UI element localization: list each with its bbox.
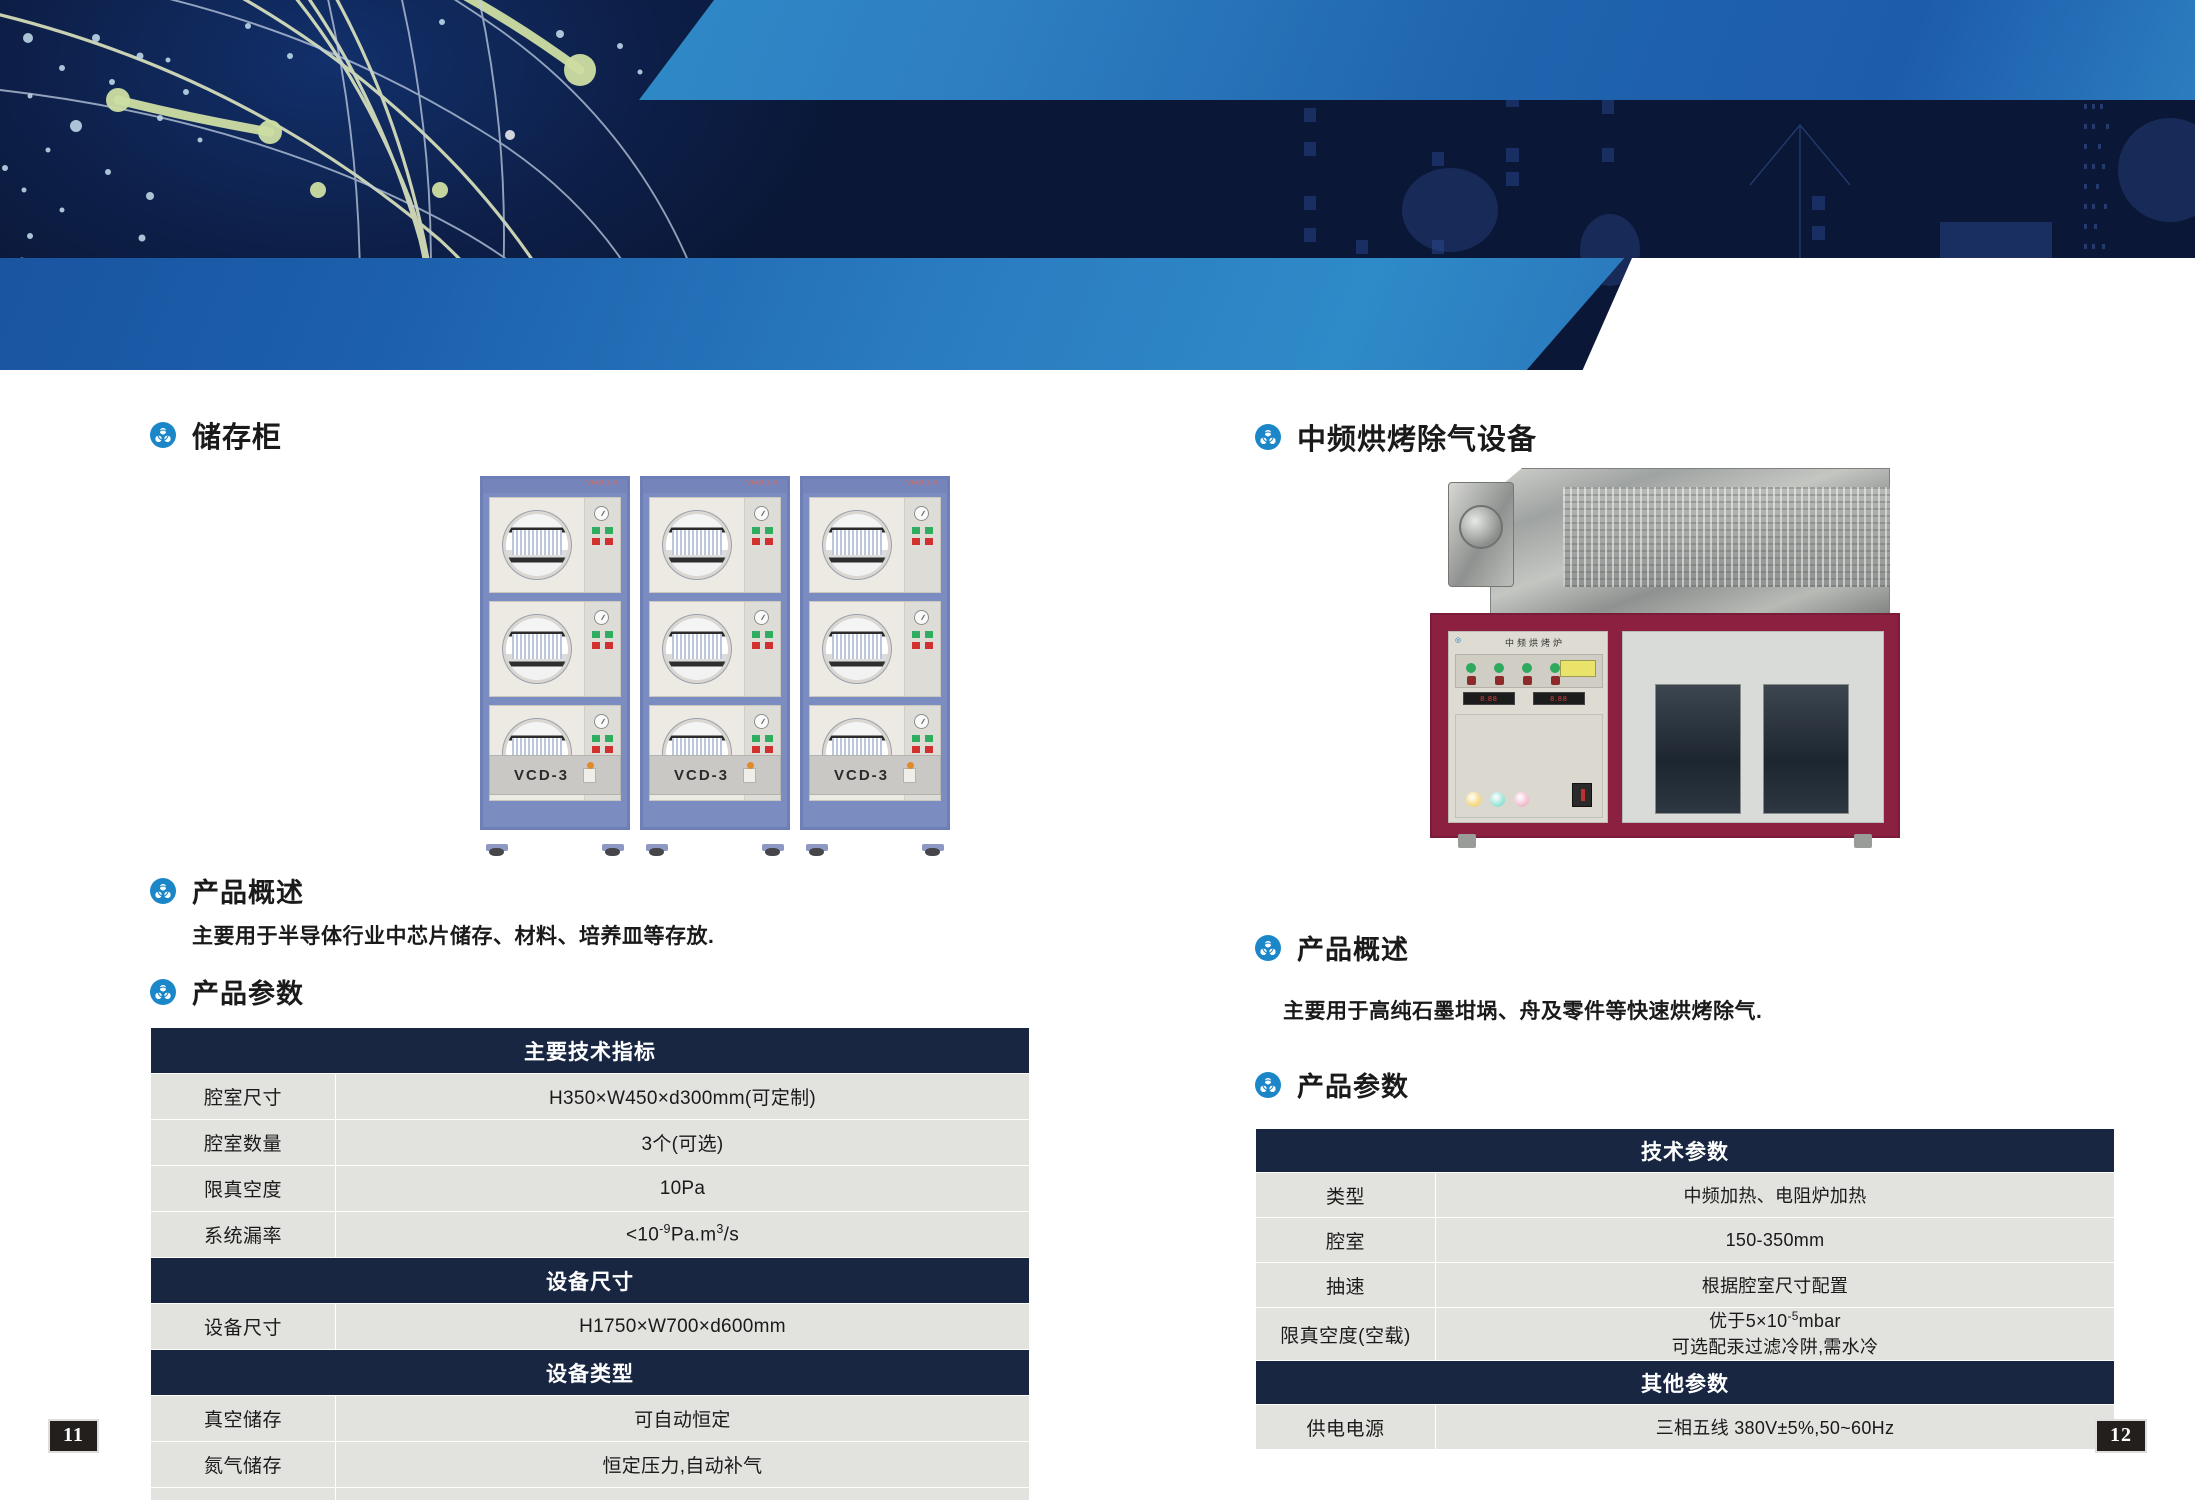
cabinet-control-panel	[584, 498, 620, 592]
row-key: 腔室数量	[151, 1120, 336, 1166]
vacuum-line-1: 优于5×10-5mbar	[1436, 1308, 2114, 1334]
chamber-flange-port-icon	[1448, 482, 1514, 587]
table-row: 腔室数量 3个(可选)	[151, 1120, 1030, 1166]
caster-wheel-icon	[602, 839, 624, 856]
indicator-lamp-red-icon	[1514, 792, 1529, 807]
row-key: 限真空度	[151, 1166, 336, 1212]
row-value: 三相五线 380V±5%,50~60Hz	[1436, 1405, 2115, 1450]
cabinet-control-panel	[744, 498, 780, 592]
power-socket-icon	[903, 768, 916, 783]
page-banner	[0, 0, 2195, 370]
red-button-icon	[1467, 676, 1476, 685]
led-red	[765, 538, 773, 545]
cabinet-led-cluster	[912, 631, 934, 649]
cabinet-frame: VACUUM	[800, 476, 950, 830]
row-key: 氮气储存	[151, 1442, 336, 1488]
row-value: 可自动恒定	[336, 1396, 1030, 1442]
led-red	[912, 642, 920, 649]
cabinet-window	[650, 498, 744, 592]
table-row: 抽速 根据腔室尺寸配置	[1256, 1263, 2115, 1308]
pressure-gauge-icon	[914, 610, 929, 625]
caster-wheel-icon	[806, 839, 828, 856]
caster-wheel-icon	[486, 839, 508, 856]
section-header-label: 其他参数	[1256, 1361, 2115, 1405]
cabinet-door	[649, 601, 781, 697]
furnace-lower-panel	[1455, 714, 1603, 818]
furnace-assembly: ◎ 中频烘烤炉 8.88	[1430, 468, 1900, 858]
cabinet-led-cluster	[912, 735, 934, 753]
vacuum-prefix: 优于5×10	[1709, 1311, 1787, 1331]
cabinet-door	[489, 497, 621, 593]
recycle-badge-icon	[1255, 1072, 1281, 1098]
cabinet-window	[810, 498, 904, 592]
cabinet-model-label: VCD-3	[674, 767, 729, 784]
cabinet-control-panel	[904, 498, 940, 592]
section-header-label: 设备类型	[151, 1350, 1030, 1396]
row-value: H1750×W700×d600mm	[336, 1304, 1030, 1350]
led-green	[592, 527, 600, 534]
banner-white-wedge	[1580, 258, 2195, 370]
table-row: 系统漏率 <10-9Pa.m3/s	[151, 1212, 1030, 1258]
led-red	[925, 538, 933, 545]
cabinet-top-bar: VACUUM	[803, 479, 947, 493]
right-params-heading: 产品参数	[1297, 1065, 1409, 1104]
led-green	[765, 735, 773, 742]
table-row: 限真空度(空载) 优于5×10-5mbar 可选配汞过滤冷阱,需水冷	[1256, 1308, 2115, 1361]
led-green	[752, 631, 760, 638]
section-header-label: 主要技术指标	[151, 1028, 1030, 1074]
row-value: 恒定压力,自动补气,漏气报警	[336, 1488, 1030, 1500]
power-socket-icon	[743, 768, 756, 783]
led-green	[592, 735, 600, 742]
green-button-icon	[1466, 663, 1476, 673]
cabinet-glass-icon	[506, 618, 568, 680]
left-overview-heading: 产品概述	[192, 871, 304, 910]
cabinet-top-bar: VACUUM	[643, 479, 787, 493]
row-key: 限真空度(空载)	[1256, 1308, 1436, 1361]
furnace-panel-caption: 中频烘烤炉	[1505, 636, 1565, 649]
led-red	[912, 746, 920, 753]
cabinet-frame: VACUUM	[480, 476, 630, 830]
cabinet-window	[650, 602, 744, 696]
brochure-page: 储存柜 VACUUM	[0, 0, 2195, 1500]
pressure-gauge-icon	[754, 610, 769, 625]
lcd-display-icon	[1560, 660, 1596, 677]
row-value: 根据腔室尺寸配置	[1436, 1263, 2115, 1308]
left-params-heading: 产品参数	[192, 972, 304, 1011]
led-green	[912, 631, 920, 638]
row-value: 3个(可选)	[336, 1120, 1030, 1166]
indicator-lamp-green-icon	[1490, 792, 1505, 807]
cabinet-base: VCD-3	[489, 755, 621, 795]
page-number-right: 12	[2095, 1419, 2147, 1453]
cabinet-glass-icon	[826, 618, 888, 680]
furnace-equipment-bay	[1622, 631, 1884, 823]
cabinet-brand-label: VACUUM	[586, 480, 619, 487]
furnace-button-row	[1455, 654, 1603, 688]
cabinet-unit-1: VACUUM	[480, 476, 630, 856]
cabinet-led-cluster	[752, 631, 774, 649]
row-key: 类型	[1256, 1173, 1436, 1218]
led-red	[925, 642, 933, 649]
pressure-gauge-icon	[594, 714, 609, 729]
cabinet-group: VACUUM	[480, 476, 950, 876]
right-product-title: 中频烘烤除气设备	[1297, 416, 1537, 458]
recycle-badge-icon	[1255, 424, 1281, 450]
cabinet-glass-icon	[666, 618, 728, 680]
row-key: 系统漏率	[151, 1212, 336, 1258]
row-value: H350×W450×d300mm(可定制)	[336, 1074, 1030, 1120]
banner-band-middle	[0, 258, 1624, 370]
right-product-title-row: 中频烘烤除气设备	[1255, 416, 2115, 458]
leak-exponent-2: 3	[716, 1222, 723, 1236]
recycle-badge-icon	[1255, 935, 1281, 961]
right-spec-table: 技术参数 类型 中频加热、电阻炉加热 腔室 150-350mm 抽速 根据腔室尺…	[1255, 1128, 2115, 1450]
green-button-icon	[1522, 663, 1532, 673]
pressure-gauge-icon	[914, 506, 929, 521]
cabinet-led-cluster	[592, 527, 614, 545]
cabinet-door	[489, 601, 621, 697]
led-red	[605, 642, 613, 649]
row-value: 恒定压力,自动补气	[336, 1442, 1030, 1488]
leveling-foot-icon	[1458, 834, 1476, 848]
led-green	[752, 527, 760, 534]
vacuum-unit: mbar	[1799, 1311, 1841, 1331]
cabinet-frame: VACUUM	[640, 476, 790, 830]
row-value: 10Pa	[336, 1166, 1030, 1212]
cabinet-led-cluster	[752, 527, 774, 545]
cabinet-base: VCD-3	[809, 755, 941, 795]
furnace-vacuum-chamber	[1490, 468, 1890, 618]
row-key: 供电电源	[1256, 1405, 1436, 1450]
led-red	[765, 642, 773, 649]
cabinet-unit-2: VACUUM	[640, 476, 790, 856]
cabinet-led-cluster	[592, 631, 614, 649]
left-overview-heading-row: 产品概述	[150, 871, 1030, 910]
led-red	[605, 538, 613, 545]
induction-furnace-photo: ◎ 中频烘烤炉 8.88	[1255, 458, 2115, 928]
right-overview-heading-row: 产品概述	[1255, 928, 2115, 967]
bay-window-left	[1655, 684, 1741, 814]
led-red	[592, 746, 600, 753]
left-product-title-row: 储存柜	[150, 414, 1030, 456]
table-section-header: 主要技术指标	[151, 1028, 1030, 1074]
caster-wheel-icon	[922, 839, 944, 856]
led-red	[605, 746, 613, 753]
left-params-heading-row: 产品参数	[150, 972, 1030, 1011]
row-value-leakrate: <10-9Pa.m3/s	[336, 1212, 1030, 1258]
storage-cabinet-photo: VACUUM	[150, 456, 1030, 871]
row-value: 中频加热、电阻炉加热	[1436, 1173, 2115, 1218]
led-green	[765, 631, 773, 638]
row-key: 抽速	[1256, 1263, 1436, 1308]
table-row: 真空储存 可自动恒定	[151, 1396, 1030, 1442]
banner-band-top	[639, 0, 2195, 100]
cabinet-brand-label: VACUUM	[746, 480, 779, 487]
cabinet-door	[809, 601, 941, 697]
table-row: 设备尺寸 H1750×W700×d600mm	[151, 1304, 1030, 1350]
right-overview-text: 主要用于高纯石墨坩埚、舟及零件等快速烘烤除气.	[1283, 995, 2115, 1025]
row-key: 氢气储存	[151, 1488, 336, 1500]
cabinet-glass-icon	[506, 514, 568, 576]
left-page-column: 储存柜 VACUUM	[150, 380, 1030, 1500]
leak-suffix: /s	[724, 1225, 739, 1246]
led-green	[605, 631, 613, 638]
table-row: 氮气储存 恒定压力,自动补气	[151, 1442, 1030, 1488]
cabinet-unit-3: VACUUM	[800, 476, 950, 856]
cabinet-control-panel	[904, 602, 940, 696]
led-red	[592, 642, 600, 649]
cabinet-glass-icon	[666, 514, 728, 576]
table-section-header: 技术参数	[1256, 1129, 2115, 1173]
pressure-gauge-icon	[754, 506, 769, 521]
table-row: 氢气储存 恒定压力,自动补气,漏气报警	[151, 1488, 1030, 1500]
cabinet-model-label: VCD-3	[834, 767, 889, 784]
red-button-icon	[1551, 676, 1560, 685]
row-key: 设备尺寸	[151, 1304, 336, 1350]
recycle-badge-icon	[150, 878, 176, 904]
red-button-icon	[1523, 676, 1532, 685]
led-green	[925, 527, 933, 534]
pressure-gauge-icon	[594, 506, 609, 521]
led-red	[752, 538, 760, 545]
table-section-header: 其他参数	[1256, 1361, 2115, 1405]
row-value-vacuum: 优于5×10-5mbar 可选配汞过滤冷阱,需水冷	[1436, 1308, 2115, 1361]
table-row: 限真空度 10Pa	[151, 1166, 1030, 1212]
main-breaker-switch-icon	[1572, 783, 1592, 807]
indicator-lamp-yellow-icon	[1466, 792, 1481, 807]
led-green	[925, 735, 933, 742]
leak-prefix: <10	[626, 1225, 659, 1246]
led-red	[925, 746, 933, 753]
led-red	[752, 642, 760, 649]
row-key: 腔室	[1256, 1218, 1436, 1263]
led-red	[912, 538, 920, 545]
table-row: 腔室尺寸 H350×W450×d300mm(可定制)	[151, 1074, 1030, 1120]
led-red	[752, 746, 760, 753]
cabinet-led-cluster	[592, 735, 614, 753]
led-green	[912, 527, 920, 534]
led-green	[912, 735, 920, 742]
right-params-heading-row: 产品参数	[1255, 1065, 2115, 1104]
page-number-left: 11	[48, 1419, 99, 1453]
led-red	[765, 746, 773, 753]
cabinet-led-cluster	[912, 527, 934, 545]
cabinet-brand-label: VACUUM	[906, 480, 939, 487]
left-product-title: 储存柜	[192, 414, 282, 456]
right-page-column: 中频烘烤除气设备 ◎ 中频烘烤炉	[1255, 380, 2115, 1450]
led-green	[592, 631, 600, 638]
cabinet-door	[809, 497, 941, 593]
green-button-icon	[1494, 663, 1504, 673]
vacuum-exponent: -5	[1787, 1309, 1798, 1323]
cabinet-door	[649, 497, 781, 593]
section-header-label: 技术参数	[1256, 1129, 2115, 1173]
furnace-cabinet-body: ◎ 中频烘烤炉 8.88	[1430, 613, 1900, 838]
led-green	[752, 735, 760, 742]
row-value: 150-350mm	[1436, 1218, 2115, 1263]
left-overview-text: 主要用于半导体行业中芯片储存、材料、培养皿等存放.	[192, 920, 1030, 950]
cabinet-window	[490, 498, 584, 592]
led-green	[765, 527, 773, 534]
recycle-badge-icon	[150, 979, 176, 1005]
led-green	[605, 735, 613, 742]
left-spec-table: 主要技术指标 腔室尺寸 H350×W450×d300mm(可定制) 腔室数量 3…	[150, 1027, 1030, 1500]
row-key: 真空储存	[151, 1396, 336, 1442]
leveling-foot-icon	[1854, 834, 1872, 848]
led-green	[925, 631, 933, 638]
table-row: 供电电源 三相五线 380V±5%,50~60Hz	[1256, 1405, 2115, 1450]
furnace-control-panel: ◎ 中频烘烤炉 8.88	[1448, 631, 1608, 823]
power-socket-icon	[583, 768, 596, 783]
vacuum-line-2: 可选配汞过滤冷阱,需水冷	[1436, 1334, 2114, 1360]
table-row: 类型 中频加热、电阻炉加热	[1256, 1173, 2115, 1218]
bay-window-right	[1763, 684, 1849, 814]
cabinet-window	[810, 602, 904, 696]
leak-exponent: -9	[659, 1222, 671, 1236]
chamber-heat-shield-icon	[1563, 487, 1893, 587]
leak-mid: Pa.m	[671, 1225, 717, 1246]
table-section-header: 设备类型	[151, 1350, 1030, 1396]
recycle-badge-icon	[150, 422, 176, 448]
manufacturer-logo-icon: ◎	[1455, 636, 1461, 644]
pressure-gauge-icon	[914, 714, 929, 729]
caster-wheel-icon	[762, 839, 784, 856]
cabinet-led-cluster	[752, 735, 774, 753]
led-red	[592, 538, 600, 545]
section-header-label: 设备尺寸	[151, 1258, 1030, 1304]
cabinet-glass-icon	[826, 514, 888, 576]
table-row: 腔室 150-350mm	[1256, 1218, 2115, 1263]
right-overview-heading: 产品概述	[1297, 928, 1409, 967]
cabinet-base: VCD-3	[649, 755, 781, 795]
cabinet-control-panel	[584, 602, 620, 696]
row-key: 腔室尺寸	[151, 1074, 336, 1120]
green-button-icon	[1550, 663, 1560, 673]
caster-wheel-icon	[646, 839, 668, 856]
cabinet-window	[490, 602, 584, 696]
cabinet-control-panel	[744, 602, 780, 696]
red-button-icon	[1495, 676, 1504, 685]
table-section-header: 设备尺寸	[151, 1258, 1030, 1304]
digital-readout-icon: 8.88	[1533, 692, 1585, 705]
led-green	[605, 527, 613, 534]
cabinet-top-bar: VACUUM	[483, 479, 627, 493]
pressure-gauge-icon	[594, 610, 609, 625]
digital-readout-icon: 8.88	[1463, 692, 1515, 705]
pressure-gauge-icon	[754, 714, 769, 729]
cabinet-model-label: VCD-3	[514, 767, 569, 784]
